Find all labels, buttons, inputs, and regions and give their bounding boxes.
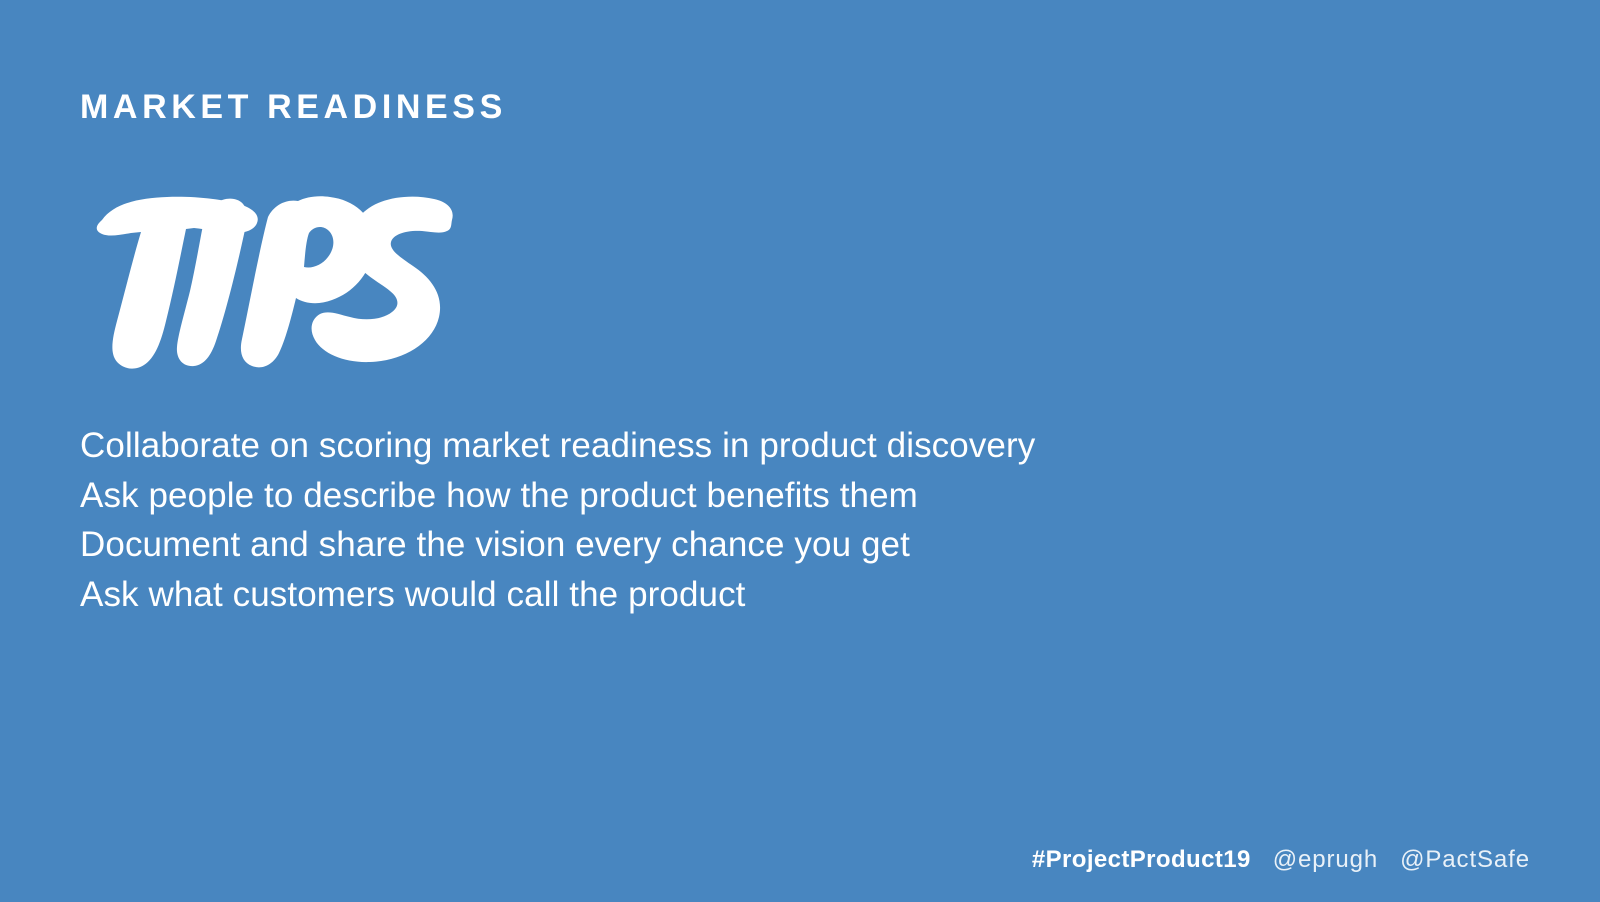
footer-handle-eprugh: @eprugh xyxy=(1273,846,1378,874)
tip-item-1: Collaborate on scoring market readiness … xyxy=(80,421,1280,471)
footer-hashtag: #ProjectProduct19 xyxy=(1032,846,1251,874)
page-title: MARKET READINESS xyxy=(80,89,507,126)
footer-handle-pactsafe: @PactSafe xyxy=(1400,846,1530,874)
tip-item-4: Ask what customers would call the produc… xyxy=(80,570,1280,620)
tips-list: Collaborate on scoring market readiness … xyxy=(80,421,1280,619)
tips-wordmark: TIPS xyxy=(82,193,462,371)
presentation-slide: MARKET READINESS TIPS Collaborate on sco… xyxy=(0,0,1600,902)
tip-item-2: Ask people to describe how the product b… xyxy=(80,471,1280,521)
footer-credits: #ProjectProduct19 @eprugh @PactSafe xyxy=(1032,846,1530,874)
tip-item-3: Document and share the vision every chan… xyxy=(80,520,1280,570)
